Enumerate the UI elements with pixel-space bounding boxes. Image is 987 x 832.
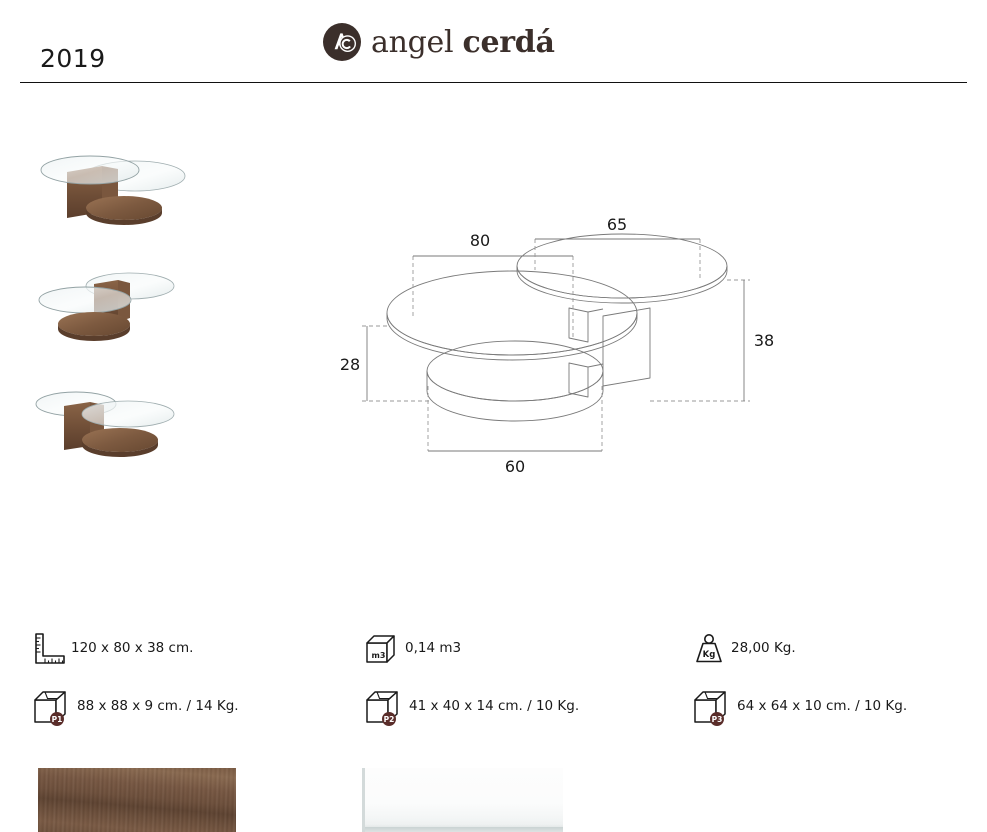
dimension-label-65: 65 [607,215,627,234]
page-title-year: 2019 [40,44,106,73]
carton-box-icon-label: P2 [384,715,395,724]
dimension-38: 38 [650,280,774,401]
material-swatches [0,768,987,832]
spec-volume: m3 0,14 m3 [364,628,461,670]
walnut-wood-swatch [38,768,236,832]
spec-package-3: P3 64 x 64 x 10 cm. / 10 Kg. [692,686,907,728]
spec-package-1-value: 88 x 88 x 9 cm. / 14 Kg. [77,700,239,714]
technical-dimension-drawing: 80 65 38 28 60 [340,208,790,480]
ruler-square-icon [32,632,66,666]
weight-icon-label: Kg [703,650,716,660]
spec-package-1: P1 88 x 88 x 9 cm. / 14 Kg. [32,686,239,728]
product-photo-angled-view [32,262,192,370]
header-divider [20,82,967,83]
brand-wordmark: angel cerdá [371,25,555,60]
cube-volume-icon: m3 [364,632,400,666]
carton-box-icon-label: P3 [712,715,723,724]
cube-volume-icon-label: m3 [372,651,386,660]
spec-volume-value: 0,14 m3 [405,642,461,656]
carton-box-icon: P3 [692,688,732,726]
weight-icon: Kg [692,632,726,666]
ac-monogram-logo-icon [322,22,362,62]
dimension-60: 60 [428,386,602,476]
specification-grid: 120 x 80 x 38 cm. m3 0,14 m3 Kg 28,00 Kg… [0,620,987,732]
clear-glass-swatch [362,768,563,832]
spec-weight-value: 28,00 Kg. [731,642,796,656]
page-header: 2019 angel cerdá [0,0,987,83]
brand-logo: angel cerdá [322,22,555,62]
dimension-label-28: 28 [340,355,360,374]
dimension-label-80: 80 [470,231,490,250]
dimension-label-60: 60 [505,457,525,476]
product-photo-rotated-view [32,378,192,486]
brand-name-bold: cerdá [463,25,555,60]
dimension-28: 28 [340,326,430,401]
carton-box-icon-label: P1 [52,715,63,724]
carton-box-icon: P2 [364,688,404,726]
dimension-65: 65 [535,215,700,280]
spec-package-2: P2 41 x 40 x 14 cm. / 10 Kg. [364,686,579,728]
carton-box-icon: P1 [32,688,72,726]
dimension-80: 80 [413,231,573,338]
spec-product-dimensions-value: 120 x 80 x 38 cm. [71,642,193,656]
spec-weight: Kg 28,00 Kg. [692,628,796,670]
spec-package-3-value: 64 x 64 x 10 cm. / 10 Kg. [737,700,907,714]
brand-name-light: angel [371,25,453,60]
spec-product-dimensions: 120 x 80 x 38 cm. [32,628,193,670]
dimension-label-38: 38 [754,331,774,350]
product-photo-front-view [32,144,192,252]
spec-package-2-value: 41 x 40 x 14 cm. / 10 Kg. [409,700,579,714]
